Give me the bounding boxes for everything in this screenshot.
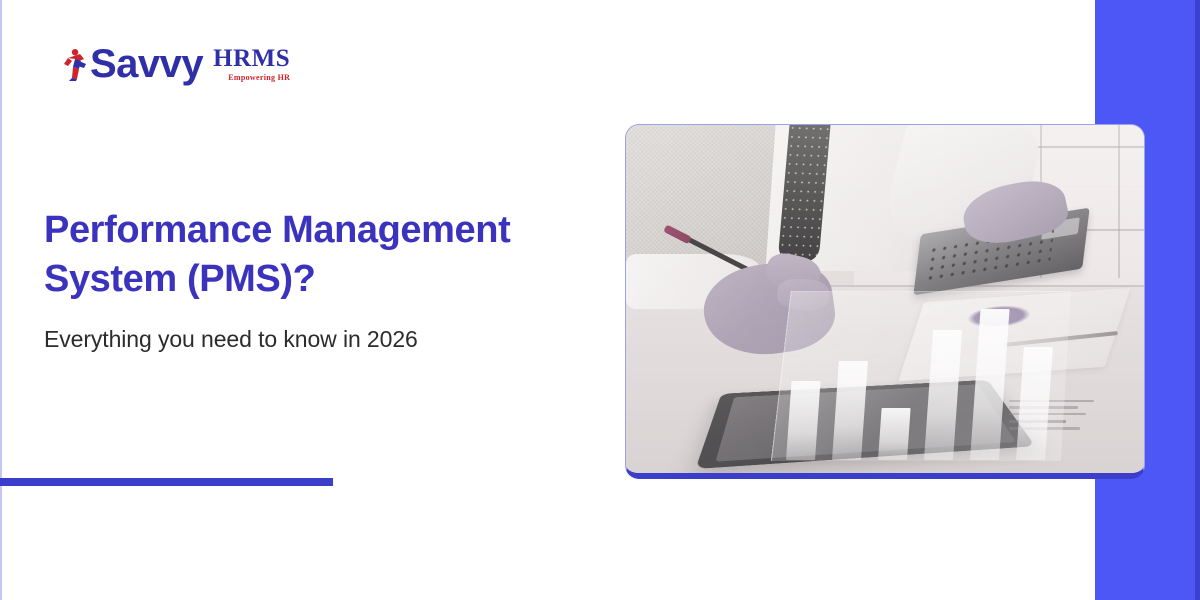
left-edge-rule — [0, 0, 2, 600]
chart-bar — [924, 329, 962, 459]
hero-photo — [626, 125, 1144, 473]
accent-underline-bar — [0, 478, 333, 486]
page-subtitle: Everything you need to know in 2026 — [44, 326, 604, 353]
brand-logo[interactable]: Savvy HRMS Empowering HR — [62, 44, 290, 84]
page-title: Performance Management System (PMS)? — [44, 206, 604, 303]
logo-product-name: HRMS — [213, 46, 290, 71]
overlay-bar-chart — [786, 289, 1057, 460]
chart-bar — [970, 309, 1010, 459]
logo-wordmark: Savvy — [90, 44, 203, 84]
chart-bar — [832, 360, 868, 459]
hero-banner: Savvy HRMS Empowering HR Performance Man… — [0, 0, 1200, 600]
logo-tagline: Empowering HR — [213, 74, 290, 82]
hero-image-card — [625, 124, 1145, 479]
railing-post — [1118, 125, 1120, 278]
chart-bar — [878, 408, 911, 459]
running-person-icon — [62, 46, 92, 82]
chart-bar — [786, 381, 821, 459]
right-panel-edge — [1195, 0, 1200, 600]
